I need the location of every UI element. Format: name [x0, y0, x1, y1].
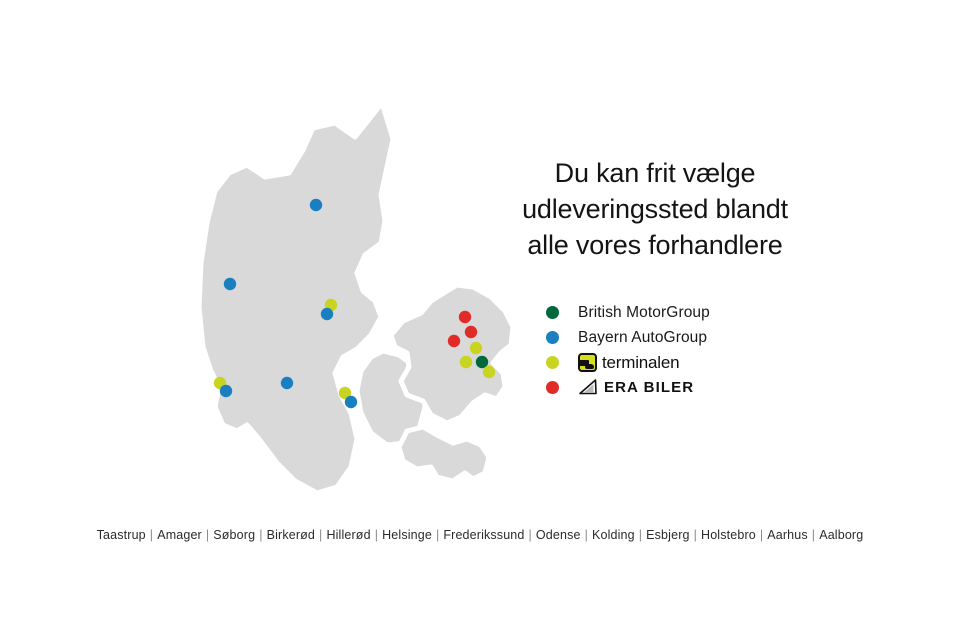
city-separator: |: [255, 528, 266, 542]
legend-label-british: British MotorGroup: [578, 304, 710, 322]
city-item: Birkerød: [267, 528, 315, 542]
legend-item-terminalen[interactable]: terminalen: [546, 350, 846, 375]
city-separator: |: [635, 528, 646, 542]
city-list: Taastrup|Amager|Søborg|Birkerød|Hillerød…: [0, 528, 960, 542]
city-separator: |: [432, 528, 443, 542]
legend-dot-terminalen-icon: [546, 356, 559, 369]
marker-aarhus-bayern[interactable]: [321, 308, 333, 320]
region-jutland: [199, 103, 393, 493]
city-separator: |: [581, 528, 592, 542]
city-separator: |: [808, 528, 819, 542]
city-item: Hillerød: [326, 528, 370, 542]
city-item: Aarhus: [767, 528, 808, 542]
headline-line-3: alle vores forhandlere: [455, 227, 855, 263]
city-item: Amager: [157, 528, 202, 542]
legend-item-era[interactable]: ERA BILER: [546, 375, 846, 400]
brand-legend: British MotorGroup Bayern AutoGroup term…: [546, 300, 846, 400]
marker-kolding[interactable]: [281, 377, 293, 389]
marker-hillerod[interactable]: [465, 326, 477, 338]
city-item: Aalborg: [819, 528, 863, 542]
city-item: Helsinge: [382, 528, 432, 542]
legend-item-british[interactable]: British MotorGroup: [546, 300, 846, 325]
marker-frederikssund[interactable]: [448, 335, 460, 347]
marker-aalborg[interactable]: [310, 199, 322, 211]
marker-taastrup[interactable]: [460, 356, 472, 368]
marker-helsinge[interactable]: [459, 311, 471, 323]
city-item: Holstebro: [701, 528, 756, 542]
terminalen-logo: terminalen: [578, 352, 679, 374]
city-separator: |: [756, 528, 767, 542]
legend-dot-bayern-icon: [546, 331, 559, 344]
city-item: Esbjerg: [646, 528, 689, 542]
city-item: Kolding: [592, 528, 635, 542]
marker-esbjerg-bayern[interactable]: [220, 385, 232, 397]
marker-odense-bayern[interactable]: [345, 396, 357, 408]
city-separator: |: [690, 528, 701, 542]
legend-label-bayern: Bayern AutoGroup: [578, 329, 707, 347]
city-separator: |: [146, 528, 157, 542]
era-triangle-icon: [578, 379, 600, 396]
legend-label-era: ERA BILER: [604, 379, 694, 396]
city-item: Taastrup: [97, 528, 146, 542]
city-separator: |: [315, 528, 326, 542]
city-item: Frederikssund: [443, 528, 524, 542]
legend-dot-british-icon: [546, 306, 559, 319]
region-lolland-falster: [399, 427, 489, 481]
marker-soborg[interactable]: [476, 356, 488, 368]
city-item: Odense: [536, 528, 581, 542]
marker-amager[interactable]: [483, 366, 495, 378]
city-item: Søborg: [213, 528, 255, 542]
terminalen-car-icon: [578, 353, 597, 372]
era-biler-logo: ERA BILER: [578, 377, 694, 399]
legend-label-terminalen: terminalen: [602, 353, 679, 373]
page-title: Du kan frit vælge udleveringssted blandt…: [455, 155, 855, 263]
headline-line-2: udleveringssted blandt: [455, 191, 855, 227]
legend-item-bayern[interactable]: Bayern AutoGroup: [546, 325, 846, 350]
city-separator: |: [525, 528, 536, 542]
marker-birkerod[interactable]: [470, 342, 482, 354]
city-separator: |: [202, 528, 213, 542]
marker-holstebro[interactable]: [224, 278, 236, 290]
legend-dot-era-icon: [546, 381, 559, 394]
headline-line-1: Du kan frit vælge: [455, 155, 855, 191]
poster-canvas: Du kan frit vælge udleveringssted blandt…: [0, 0, 960, 640]
city-separator: |: [371, 528, 382, 542]
